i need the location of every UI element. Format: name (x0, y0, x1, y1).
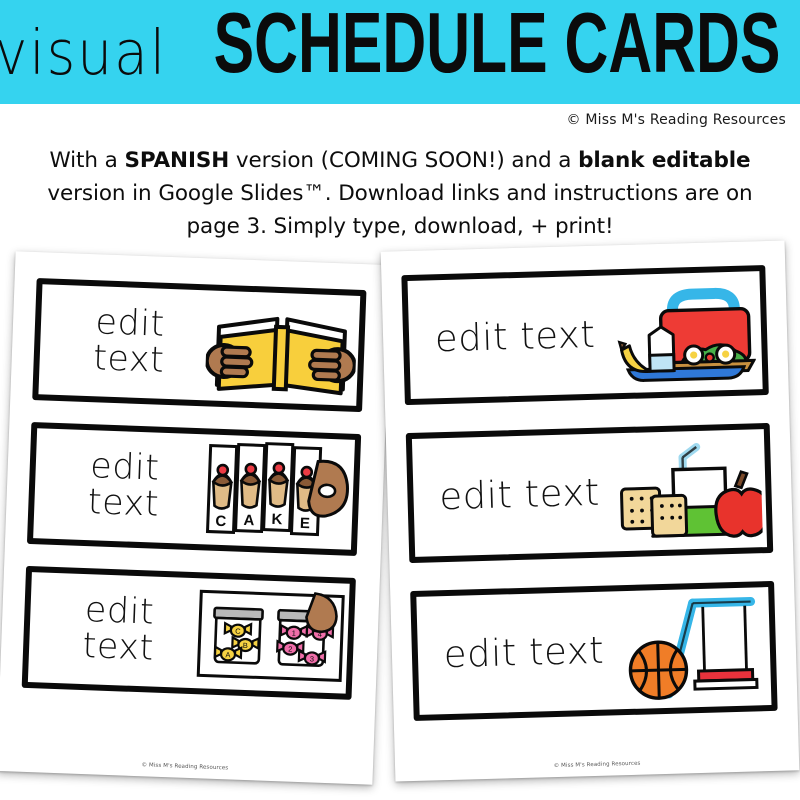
snack-juice-apple-icon (612, 429, 767, 551)
card-snack[interactable]: edit text (406, 423, 773, 563)
svg-text:C: C (235, 627, 241, 636)
right-sheet[interactable]: edit text (381, 240, 800, 781)
subtitle-bold-editable: blank editable (578, 148, 750, 173)
card-read-label: edittext (39, 304, 206, 381)
svg-text:K: K (271, 511, 283, 528)
candy-jars-icon: C B A (192, 578, 350, 694)
card-sort-candy[interactable]: edittext C (22, 566, 356, 700)
card-spell-cake[interactable]: edittext C (27, 422, 361, 556)
header-title: visual SCHEDULE CARDS (0, 19, 800, 85)
right-sheet-footer: © Miss M's Reading Resources (395, 756, 799, 773)
page-title-bold: SCHEDULE CARDS (214, 0, 781, 85)
subtitle-bold-spanish: SPANISH (124, 148, 229, 173)
card-lunch[interactable]: edit text (401, 265, 768, 405)
open-book-hands-icon (202, 290, 360, 406)
product-cover: visual SCHEDULE CARDS © Miss M's Reading… (0, 0, 800, 800)
subtitle-description: With a SPANISH version (COMING SOON!) an… (20, 144, 780, 243)
card-spell-cake-label: edittext (34, 447, 201, 524)
left-sheet-footer: © Miss M's Reading Resources (0, 757, 373, 777)
card-sort-candy-label: edittext (29, 591, 196, 668)
header-banner: visual SCHEDULE CARDS (0, 0, 800, 104)
card-recess-label: edit text (417, 631, 618, 674)
svg-text:A: A (243, 512, 255, 529)
subtitle-part2: version (COMING SOON!) and a (229, 148, 578, 173)
card-snack-label: edit text (413, 473, 614, 516)
cupcake-letter-cards-icon: C A (197, 434, 355, 550)
basketball-swing-icon (616, 587, 771, 709)
card-lunch-label: edit text (409, 316, 610, 359)
svg-text:1: 1 (292, 629, 296, 638)
copyright-notice: © Miss M's Reading Resources (566, 112, 786, 128)
lunchbox-icon (607, 271, 762, 393)
card-recess[interactable]: edit text (410, 581, 777, 721)
card-read[interactable]: edittext (32, 278, 366, 412)
page-title-light: visual (0, 22, 167, 84)
svg-text:2: 2 (288, 645, 292, 654)
left-sheet[interactable]: edittext (0, 251, 391, 784)
svg-text:C: C (215, 513, 227, 530)
svg-text:A: A (225, 650, 230, 659)
svg-text:E: E (300, 515, 311, 532)
svg-text:B: B (243, 641, 248, 650)
subtitle-part3: version in Google Slides™. Download link… (47, 181, 752, 239)
subtitle-part1: With a (49, 148, 124, 173)
svg-text:3: 3 (310, 654, 314, 663)
